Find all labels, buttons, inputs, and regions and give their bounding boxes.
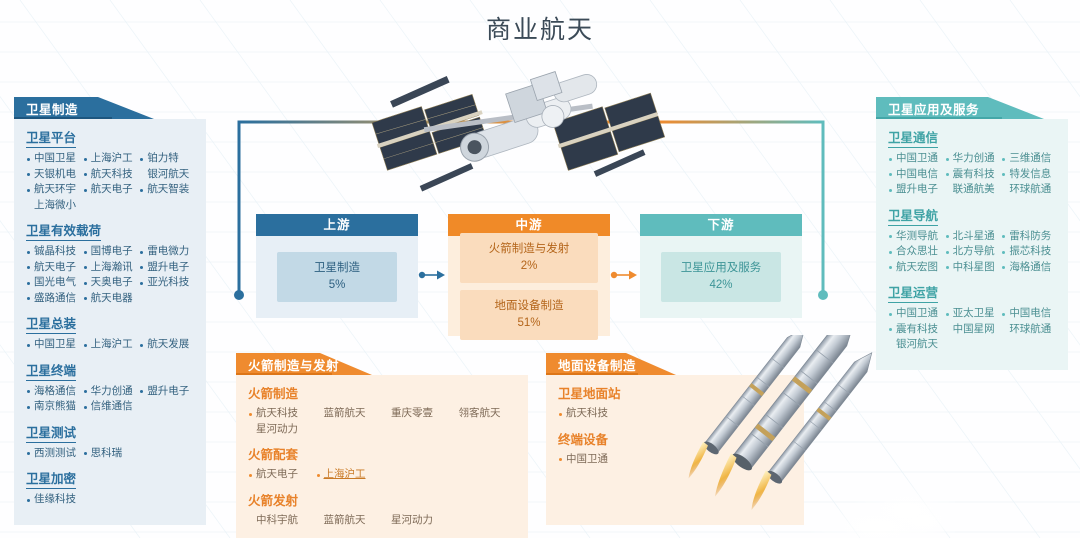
list-item[interactable]: 中国卫星	[26, 151, 83, 167]
group-title: 卫星平台	[26, 127, 76, 148]
group-title: 卫星测试	[26, 422, 76, 443]
list-item[interactable]: 翎客航天	[451, 406, 519, 422]
list-item[interactable]: 中国卫通	[888, 151, 945, 167]
group-satellite-encryption: 卫星加密 佳缘科技	[26, 468, 196, 508]
chip-label: 火箭制造与发射	[489, 243, 570, 255]
list-item[interactable]: 环球航通	[1001, 322, 1058, 338]
list-item[interactable]: 蓝箭航天	[316, 513, 384, 529]
chip-label: 地面设备制造	[495, 300, 564, 312]
list-item[interactable]: 银河航天	[139, 167, 196, 183]
list-item[interactable]: 航天电器	[83, 291, 140, 307]
list-item[interactable]: 中国电信	[1001, 306, 1058, 322]
list-item[interactable]: 星河动力	[383, 513, 451, 529]
list-item[interactable]: 蓝箭航天	[316, 406, 384, 422]
stream-upstream-body: 卫星制造 5%	[256, 236, 418, 318]
group-title: 火箭配套	[248, 444, 298, 464]
rocket-launch-image	[655, 335, 955, 538]
panel-rocket-tab[interactable]: 火箭制造与发射	[236, 353, 372, 375]
stream-downstream-header: 下游	[640, 214, 802, 236]
group-title: 卫星通信	[888, 127, 938, 148]
list-item[interactable]: 联通航美	[945, 182, 1002, 198]
list-item[interactable]: 三维通信	[1001, 151, 1058, 167]
list-item[interactable]: 铖晶科技	[26, 244, 83, 260]
group-title: 卫星总装	[26, 313, 76, 334]
arrow-mid-to-down	[611, 271, 637, 280]
list-item[interactable]: 天奥电子	[83, 275, 140, 291]
list-item[interactable]: 中科宇航	[248, 513, 316, 529]
group-title: 卫星导航	[888, 205, 938, 226]
list-item[interactable]: 航天宏图	[888, 260, 945, 276]
list-item[interactable]: 中国卫通	[888, 306, 945, 322]
list-item[interactable]: 思科瑞	[83, 446, 140, 462]
chip-label: 卫星应用及服务	[681, 262, 762, 274]
list-item[interactable]: 航天智装	[139, 182, 196, 198]
list-item[interactable]: 盟升电子	[139, 384, 196, 400]
chip-percent: 5%	[281, 277, 393, 294]
list-item[interactable]: 环球航通	[1001, 182, 1058, 198]
list-item[interactable]: 信维通信	[83, 399, 140, 415]
panel-rocket-tab-label: 火箭制造与发射	[248, 355, 339, 374]
list-item[interactable]: 上海瀚讯	[83, 260, 140, 276]
group-title: 卫星运营	[888, 282, 938, 303]
chip-satellite-manufacturing[interactable]: 卫星制造 5%	[277, 252, 397, 302]
panel-satellite-applications: 卫星应用及服务 卫星通信 中国卫通 中国电信 盟升电子 华力创通 震有科技 联通…	[876, 97, 1068, 370]
list-item[interactable]: 盛路通信	[26, 291, 83, 307]
list-item[interactable]: 震有科技	[945, 167, 1002, 183]
group-satellite-testing: 卫星测试 西测测试 思科瑞	[26, 422, 196, 462]
group-satellite-communication: 卫星通信 中国卫通 中国电信 盟升电子 华力创通 震有科技 联通航美 三维通信 …	[888, 127, 1058, 198]
group-title: 火箭制造	[248, 383, 298, 403]
panel-ground-tab-label: 地面设备制造	[558, 355, 636, 374]
chip-percent: 2%	[464, 258, 594, 275]
list-item[interactable]: 华测导航	[888, 229, 945, 245]
list-item[interactable]: 中国电信	[888, 167, 945, 183]
list-item[interactable]: 佳缘科技	[26, 492, 83, 508]
group-satellite-payload: 卫星有效载荷 铖晶科技 航天电子 国光电气 盛路通信 国博电子 上海瀚讯 天奥电…	[26, 220, 196, 306]
group-title: 卫星有效载荷	[26, 220, 101, 241]
list-item[interactable]: 航天科技	[248, 406, 316, 422]
list-item[interactable]: 上海沪工	[83, 337, 140, 353]
group-satellite-navigation: 卫星导航 华测导航 合众思壮 航天宏图 北斗星通 北方导航 中科星图 雷科防务 …	[888, 205, 1058, 276]
list-item[interactable]: 海格通信	[1001, 260, 1058, 276]
panel-satellite-manufacturing: 卫星制造 卫星平台 中国卫星 天银机电 航天环宇 上海微小 上海沪工 航天科技 …	[14, 97, 206, 525]
group-rocket-components: 火箭配套 航天电子 上海沪工	[248, 444, 518, 483]
list-item[interactable]: 特发信息	[1001, 167, 1058, 183]
arrow-up-to-mid	[419, 271, 445, 280]
list-item[interactable]: 中科星图	[945, 260, 1002, 276]
space-station-image	[368, 42, 668, 222]
stream-downstream: 下游 卫星应用及服务 42%	[640, 214, 802, 318]
chip-percent: 42%	[665, 277, 777, 294]
group-satellite-terminal: 卫星终端 海格通信 南京熊猫 华力创通 信维通信 盟升电子	[26, 360, 196, 415]
list-item[interactable]: 华力创通	[83, 384, 140, 400]
list-item[interactable]: 星河动力	[248, 422, 316, 438]
panel-right-tab[interactable]: 卫星应用及服务	[876, 97, 1044, 119]
list-item[interactable]: 国光电气	[26, 275, 83, 291]
panel-rocket-manufacturing-launch: 火箭制造与发射 火箭制造 航天科技 星河动力 蓝箭航天 重庆零壹 翎客航天 火箭…	[236, 353, 528, 538]
group-title: 火箭发射	[248, 490, 298, 510]
list-item[interactable]: 雷科防务	[1001, 229, 1058, 245]
list-item[interactable]: 上海沪工	[316, 467, 384, 483]
page-title: 商业航天	[0, 10, 1080, 46]
chip-percent: 51%	[464, 315, 594, 332]
group-rocket-launch: 火箭发射 中科宇航 蓝箭航天 星河动力	[248, 490, 518, 529]
list-item[interactable]: 雷电微力	[139, 244, 196, 260]
tab-underline	[876, 117, 1002, 119]
list-item[interactable]: 北斗星通	[945, 229, 1002, 245]
list-item[interactable]: 航天电子	[248, 467, 316, 483]
stream-upstream: 上游 卫星制造 5%	[256, 214, 418, 318]
list-item[interactable]: 盟升电子	[888, 182, 945, 198]
list-item[interactable]: 航天电子	[26, 260, 83, 276]
stream-upstream-header: 上游	[256, 214, 418, 236]
panel-right-tab-label: 卫星应用及服务	[888, 99, 979, 118]
list-item[interactable]: 合众思壮	[888, 244, 945, 260]
group-title: 卫星加密	[26, 468, 76, 489]
list-item[interactable]: 航天环宇	[26, 182, 83, 198]
tab-underline	[236, 373, 332, 375]
list-item[interactable]: 天银机电	[26, 167, 83, 183]
stream-midstream-body: 火箭制造与发射 2% 地面设备制造 51%	[448, 236, 610, 336]
list-item[interactable]: 铂力特	[139, 151, 196, 167]
list-item[interactable]: 华力创通	[945, 151, 1002, 167]
list-item[interactable]: 南京熊猫	[26, 399, 83, 415]
list-item[interactable]: 西测测试	[26, 446, 83, 462]
list-item[interactable]: 北方导航	[945, 244, 1002, 260]
panel-left-tab[interactable]: 卫星制造	[14, 97, 154, 119]
group-title: 卫星终端	[26, 360, 76, 381]
panel-left-tab-label: 卫星制造	[26, 99, 78, 118]
chip-label: 卫星制造	[314, 262, 360, 274]
list-item[interactable]: 航天发展	[139, 337, 196, 353]
chip-rocket-manufacturing-launch[interactable]: 火箭制造与发射 2%	[460, 233, 598, 283]
list-item[interactable]: 亚光科技	[139, 275, 196, 291]
panel-left-body: 卫星平台 中国卫星 天银机电 航天环宇 上海微小 上海沪工 航天科技 航天电子 …	[14, 119, 206, 525]
group-title: 卫星地面站	[558, 383, 621, 403]
list-item[interactable]: 国博电子	[83, 244, 140, 260]
panel-right-body: 卫星通信 中国卫通 中国电信 盟升电子 华力创通 震有科技 联通航美 三维通信 …	[876, 119, 1068, 370]
group-rocket-manufacturing: 火箭制造 航天科技 星河动力 蓝箭航天 重庆零壹 翎客航天	[248, 383, 518, 437]
tab-underline	[546, 373, 638, 375]
group-title: 终端设备	[558, 429, 608, 449]
list-item[interactable]: 上海微小	[26, 198, 83, 214]
list-item[interactable]: 亚太卫星	[945, 306, 1002, 322]
list-item[interactable]: 重庆零壹	[383, 406, 451, 422]
list-item[interactable]: 中国卫星	[26, 337, 83, 353]
list-item[interactable]: 振芯科技	[1001, 244, 1058, 260]
list-item[interactable]: 上海沪工	[83, 151, 140, 167]
infographic-canvas: 商业航天	[0, 0, 1080, 538]
stream-downstream-body: 卫星应用及服务 42%	[640, 236, 802, 318]
stream-midstream: 中游 火箭制造与发射 2% 地面设备制造 51%	[448, 214, 610, 336]
list-item[interactable]: 海格通信	[26, 384, 83, 400]
list-item[interactable]: 航天电子	[83, 182, 140, 198]
group-satellite-assembly: 卫星总装 中国卫星 上海沪工 航天发展	[26, 313, 196, 353]
tab-underline	[14, 117, 112, 119]
chip-ground-equipment-manufacturing[interactable]: 地面设备制造 51%	[460, 290, 598, 340]
group-satellite-platform: 卫星平台 中国卫星 天银机电 航天环宇 上海微小 上海沪工 航天科技 航天电子 …	[26, 127, 196, 213]
panel-rocket-body: 火箭制造 航天科技 星河动力 蓝箭航天 重庆零壹 翎客航天 火箭配套 航天电子 …	[236, 375, 528, 538]
chip-satellite-applications-services[interactable]: 卫星应用及服务 42%	[661, 252, 781, 302]
list-item[interactable]: 盟升电子	[139, 260, 196, 276]
list-item[interactable]: 航天科技	[83, 167, 140, 183]
